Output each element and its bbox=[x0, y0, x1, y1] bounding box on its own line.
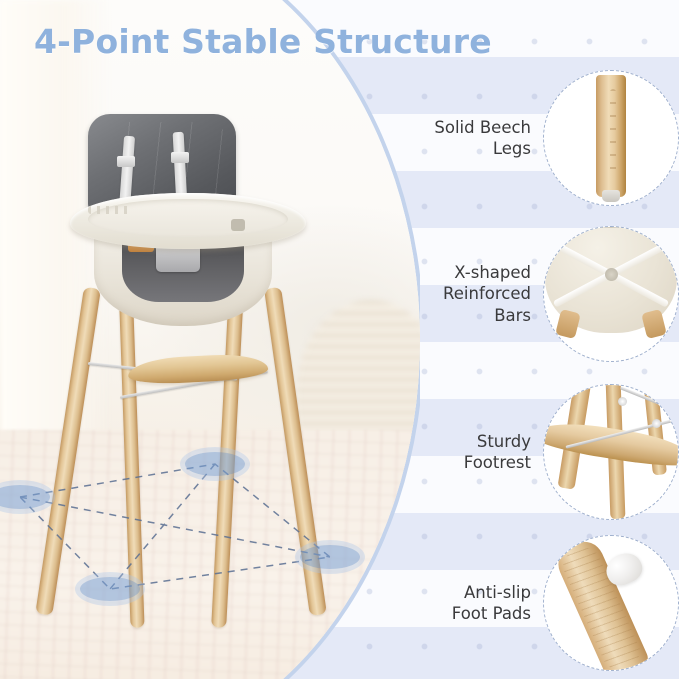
foot-pad-icon bbox=[543, 535, 679, 671]
feature-label: X-shaped Reinforced Bars bbox=[400, 262, 543, 325]
x-brace-icon bbox=[543, 226, 679, 362]
foot-marker-back-right bbox=[300, 545, 360, 569]
bar-center-hub bbox=[605, 268, 618, 281]
feature-callout-x-shaped-reinforced-bars: X-shaped Reinforced Bars bbox=[400, 218, 679, 370]
page-title: 4-Point Stable Structure bbox=[34, 22, 492, 61]
wood-grain bbox=[610, 89, 616, 175]
wire-node-2 bbox=[652, 419, 661, 428]
foot-marker-back-left bbox=[185, 452, 245, 476]
feature-callout-sturdy-footrest: Sturdy Footrest bbox=[400, 376, 679, 528]
leg-socket-right bbox=[641, 309, 667, 339]
beech-leg-icon bbox=[543, 70, 679, 206]
feature-callout-solid-beech-legs: Solid Beech Legs bbox=[400, 62, 679, 214]
foot-marker-front-left bbox=[0, 485, 50, 509]
wire-node-1 bbox=[618, 397, 627, 406]
stability-foot-markers bbox=[0, 0, 420, 679]
feature-label: Solid Beech Legs bbox=[400, 117, 543, 159]
mount-tab bbox=[596, 226, 626, 228]
feature-label: Sturdy Footrest bbox=[400, 431, 543, 473]
product-photo-panel bbox=[0, 0, 420, 679]
footrest-icon bbox=[543, 384, 679, 520]
product-infographic: 4-Point Stable Structure Solid Beech Leg… bbox=[0, 0, 679, 679]
feature-label: Anti-slip Foot Pads bbox=[400, 582, 543, 624]
feature-callout-anti-slip-foot-pads: Anti-slip Foot Pads bbox=[400, 527, 679, 679]
arc-mask bbox=[0, 0, 420, 679]
foot-marker-front-right bbox=[80, 577, 140, 601]
